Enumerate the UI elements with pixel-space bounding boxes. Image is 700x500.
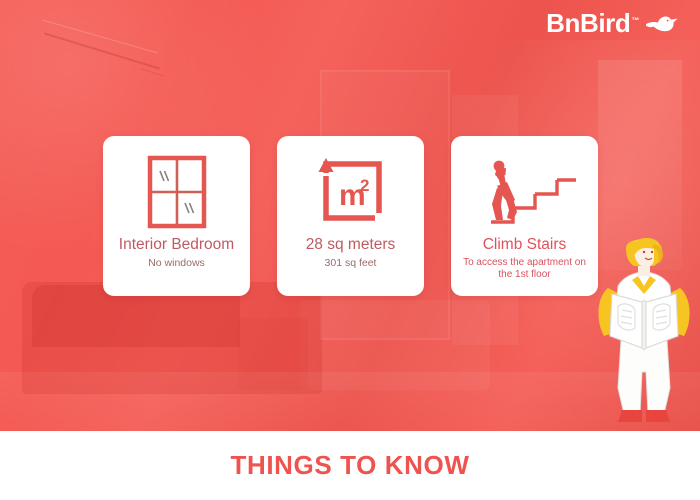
card-title: Interior Bedroom: [119, 236, 234, 254]
poster-root: BnBird™ In: [0, 0, 700, 500]
card-icon-slot: [473, 152, 577, 232]
card-square-meters[interactable]: m 2 28 sq meters 301 sq feet: [277, 136, 424, 296]
bottom-banner: THINGS TO KNOW: [0, 431, 700, 500]
card-icon-slot: [147, 152, 207, 232]
card-subtitle: No windows: [148, 257, 205, 270]
banner-heading: THINGS TO KNOW: [230, 450, 469, 481]
brand-name-label: BnBird: [546, 8, 630, 38]
trademark-symbol: ™: [631, 16, 639, 25]
card-subtitle: To access the apartment on the 1st floor: [460, 257, 589, 282]
square-meters-icon-exponent: 2: [360, 176, 369, 195]
card-climb-stairs[interactable]: Climb Stairs To access the apartment on …: [451, 136, 598, 296]
brand-logo[interactable]: BnBird™: [546, 10, 680, 36]
climb-stairs-icon: [473, 156, 577, 228]
brand-name: BnBird™: [546, 10, 638, 36]
card-interior-bedroom[interactable]: Interior Bedroom No windows: [103, 136, 250, 296]
card-subtitle: 301 sq feet: [325, 257, 377, 270]
window-icon: [147, 155, 207, 229]
card-icon-slot: m 2: [313, 152, 389, 232]
card-title: 28 sq meters: [306, 236, 396, 254]
bird-icon: [644, 11, 680, 35]
person-reading-book-illustration: [588, 232, 700, 437]
card-title: Climb Stairs: [483, 236, 567, 254]
square-meters-icon: m 2: [313, 155, 389, 229]
info-cards: Interior Bedroom No windows m 2 28 sq me…: [103, 136, 598, 296]
